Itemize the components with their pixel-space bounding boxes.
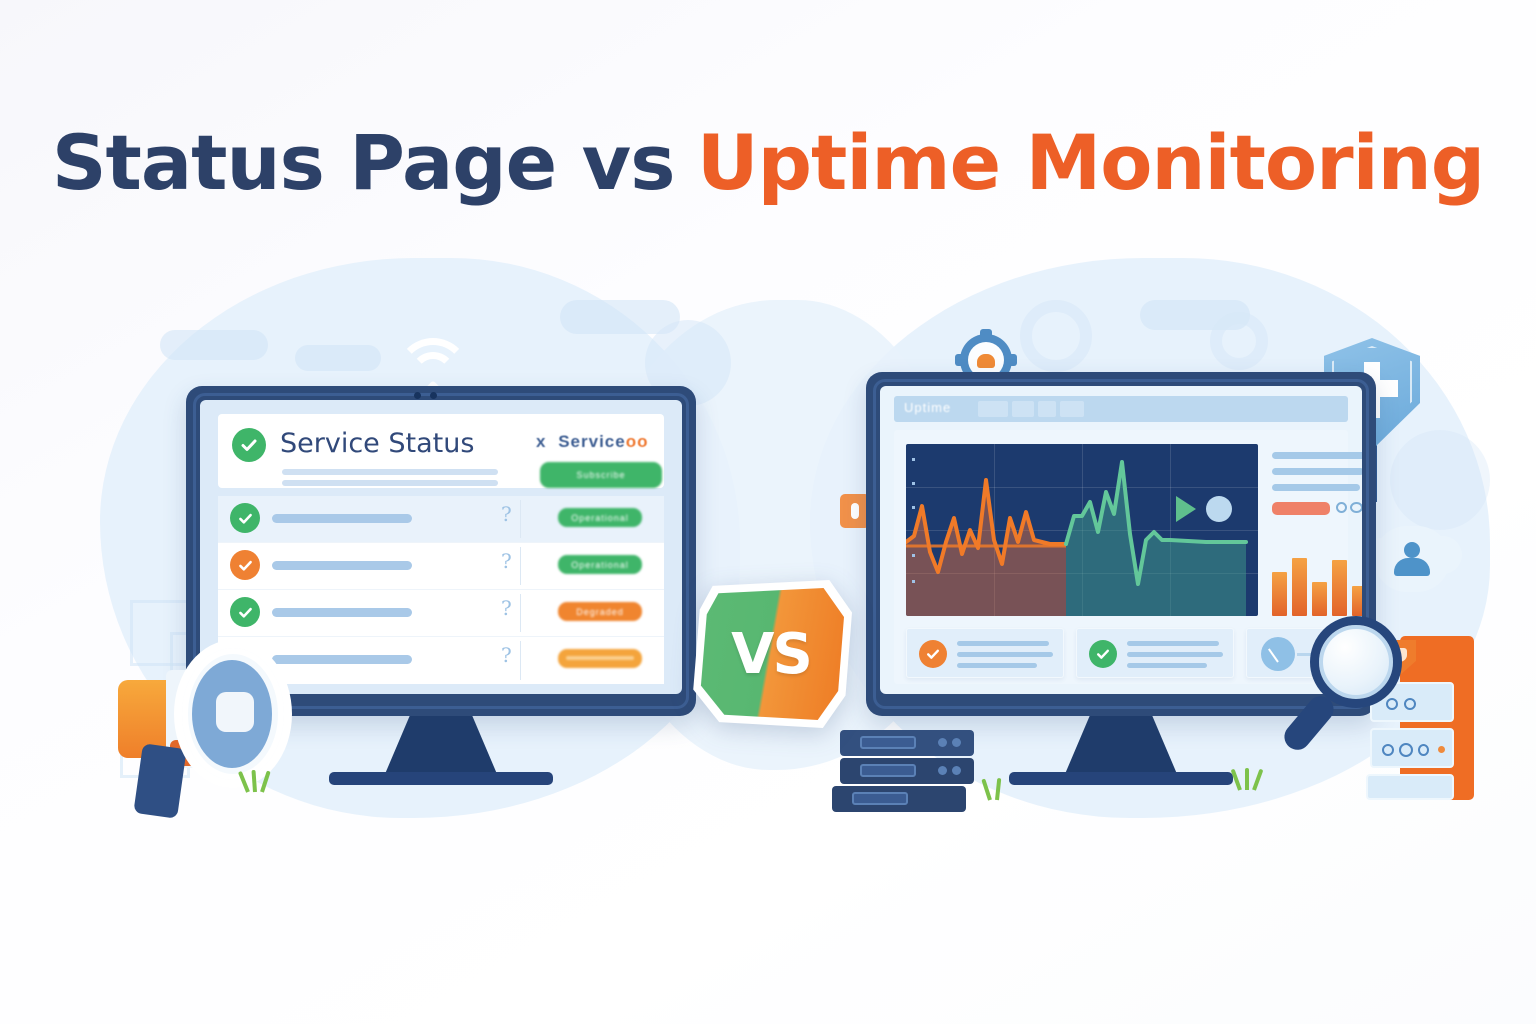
card-text-line [1127,663,1207,668]
server-led [952,738,961,747]
server-led [938,766,947,775]
rack-panel-3 [1366,774,1454,800]
card-text-line [1127,641,1219,646]
magnifying-glass-icon [1292,614,1432,754]
topbar-segment [1060,401,1084,417]
uptime-dashboard-screen: Uptime [880,386,1362,694]
mini-bar-2 [1292,558,1307,616]
cloud-user-icon [1374,526,1450,592]
row-divider [520,547,521,585]
sidebar-text-line-3 [1272,484,1360,491]
row-check-icon [230,503,260,533]
decorative-gear-1 [1020,300,1092,372]
card-check-icon [1089,640,1117,668]
row-meta-glyph: ? [501,502,512,526]
sidebar-text-line-1 [1272,452,1362,459]
card-check-icon [919,640,947,668]
service-status-title: Service Status [280,428,474,459]
row-divider [520,594,521,632]
sidebar-ring-icon [1336,502,1347,513]
brand-suffix: oo [626,432,649,451]
dashboard-body [894,430,1348,684]
vs-badge-label: VS [690,580,852,728]
axis-tick [912,482,915,485]
page-title: Status Page vs Uptime Monitoring [0,118,1536,207]
server-slot [860,736,916,749]
service-row-3[interactable]: ? Degraded [218,590,664,637]
row-status-badge: Degraded [558,602,642,621]
row-meta-glyph: ? [501,549,512,573]
service-status-header-card: Service Status x Serviceoo Subscribe [218,414,664,488]
header-check-icon [232,428,266,462]
row-check-icon [230,550,260,580]
server-slot [860,764,916,777]
poster-canvas: Status Page vs Uptime Monitoring [0,0,1536,1024]
card-text-line [1127,652,1223,657]
server-slot [852,792,908,805]
row-label-bar [272,561,412,570]
subscribe-button[interactable]: Subscribe [540,462,662,488]
axis-tick [912,554,915,557]
row-status-badge [558,649,642,668]
service-row-2[interactable]: ? Operational [218,543,664,590]
play-triangle-icon [1176,496,1196,522]
topbar-segment [1038,401,1056,417]
service-row-1[interactable]: ? Operational [218,496,664,543]
status-card-2[interactable] [1076,628,1234,678]
row-check-icon [230,597,260,627]
topbar-label: Uptime [904,400,951,415]
card-text-line [957,663,1037,668]
sidebar-ring-icon [1350,502,1362,513]
mini-bar-1 [1272,572,1287,616]
chart-svg [906,444,1258,616]
vs-badge: VS [690,580,852,728]
topbar-segment [1012,401,1034,417]
gauge-icon [1261,637,1295,671]
decorative-cloud-1 [160,330,268,360]
decorative-cloud-2 [295,345,381,371]
server-unit-2 [840,758,974,784]
row-meta-glyph: ? [501,643,512,667]
header-text-line-1 [282,469,498,475]
mini-bar-4 [1332,560,1347,616]
row-divider [520,500,521,538]
topbar-segment [978,401,1008,417]
row-status-badge: Operational [558,508,642,527]
decorative-gear-2 [1210,312,1268,370]
mini-bar-5 [1352,586,1362,616]
row-label-bar [272,514,412,523]
server-led [938,738,947,747]
axis-tick [912,458,915,461]
card-text-line [957,641,1049,646]
axis-tick [912,506,915,509]
header-text-line-2 [282,480,498,486]
brand-name: Service [558,432,626,451]
megaphone-icon [66,636,316,816]
row-divider [520,641,521,680]
status-card-1[interactable] [906,628,1064,678]
row-label-bar [272,608,412,617]
sidebar-alert-bar [1272,502,1330,515]
sidebar-text-line-2 [1272,468,1362,475]
title-part-orange: Uptime Monitoring [697,118,1484,207]
axis-tick [912,580,915,583]
chart-marker-dot [1206,496,1232,522]
server-led [952,766,961,775]
row-status-badge: Operational [558,555,642,574]
rack-status-led [1438,746,1445,753]
monitor-stand-base-left [329,772,553,785]
response-time-chart [906,444,1258,616]
title-part-navy: Status Page vs [52,118,675,207]
row-meta-glyph: ? [501,596,512,620]
card-text-line [957,652,1053,657]
service-brand-label: x Serviceoo [536,432,648,452]
brand-prefix: x [536,432,546,451]
dashboard-topbar: Uptime [894,396,1348,422]
server-unit-1 [840,730,974,756]
mini-bar-3 [1312,582,1327,616]
server-unit-3 [832,786,966,812]
monitor-stand-base-right [1009,772,1233,785]
